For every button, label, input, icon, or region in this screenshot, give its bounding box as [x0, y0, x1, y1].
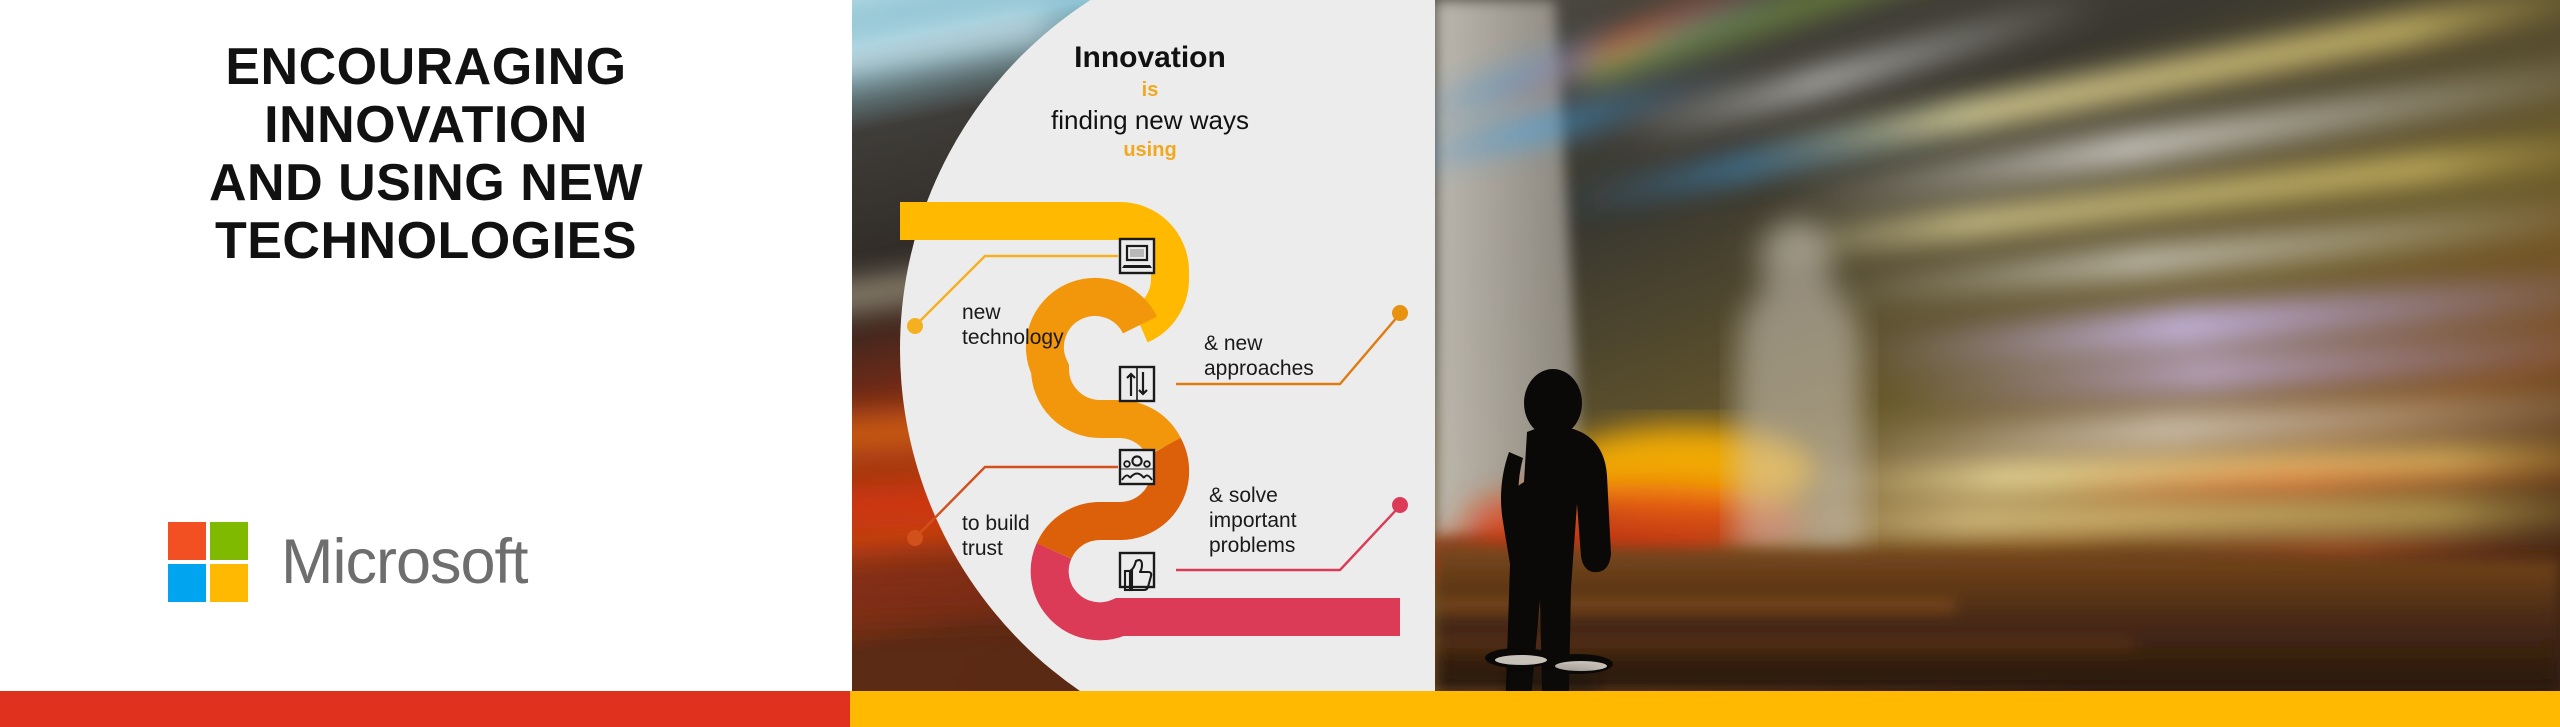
tile-yellow — [210, 564, 248, 602]
footer-bar-left — [0, 691, 850, 727]
page-title: ENCOURAGING INNOVATION AND USING NEW TEC… — [0, 38, 852, 270]
left-title-panel: ENCOURAGING INNOVATION AND USING NEW TEC… — [0, 0, 852, 691]
infographic-circle-panel — [900, 0, 1435, 691]
page-title-line-2: INNOVATION — [0, 96, 852, 154]
tile-red — [168, 522, 206, 560]
tile-blue — [168, 564, 206, 602]
microsoft-logo: Microsoft — [168, 522, 528, 602]
grey-circle-clip — [852, 0, 1435, 691]
right-photo — [1435, 0, 2560, 691]
microsoft-wordmark: Microsoft — [281, 531, 528, 594]
slide-canvas: ENCOURAGING INNOVATION AND USING NEW TEC… — [0, 0, 2560, 727]
light-projection-photo-right — [1435, 0, 2560, 691]
page-title-line-4: TECHNOLOGIES — [0, 212, 852, 270]
tile-green — [210, 522, 248, 560]
footer-bar-right — [850, 691, 2560, 727]
page-title-line-3: AND USING NEW — [0, 154, 852, 212]
page-title-line-1: ENCOURAGING — [0, 38, 852, 96]
microsoft-logo-icon — [168, 522, 248, 602]
